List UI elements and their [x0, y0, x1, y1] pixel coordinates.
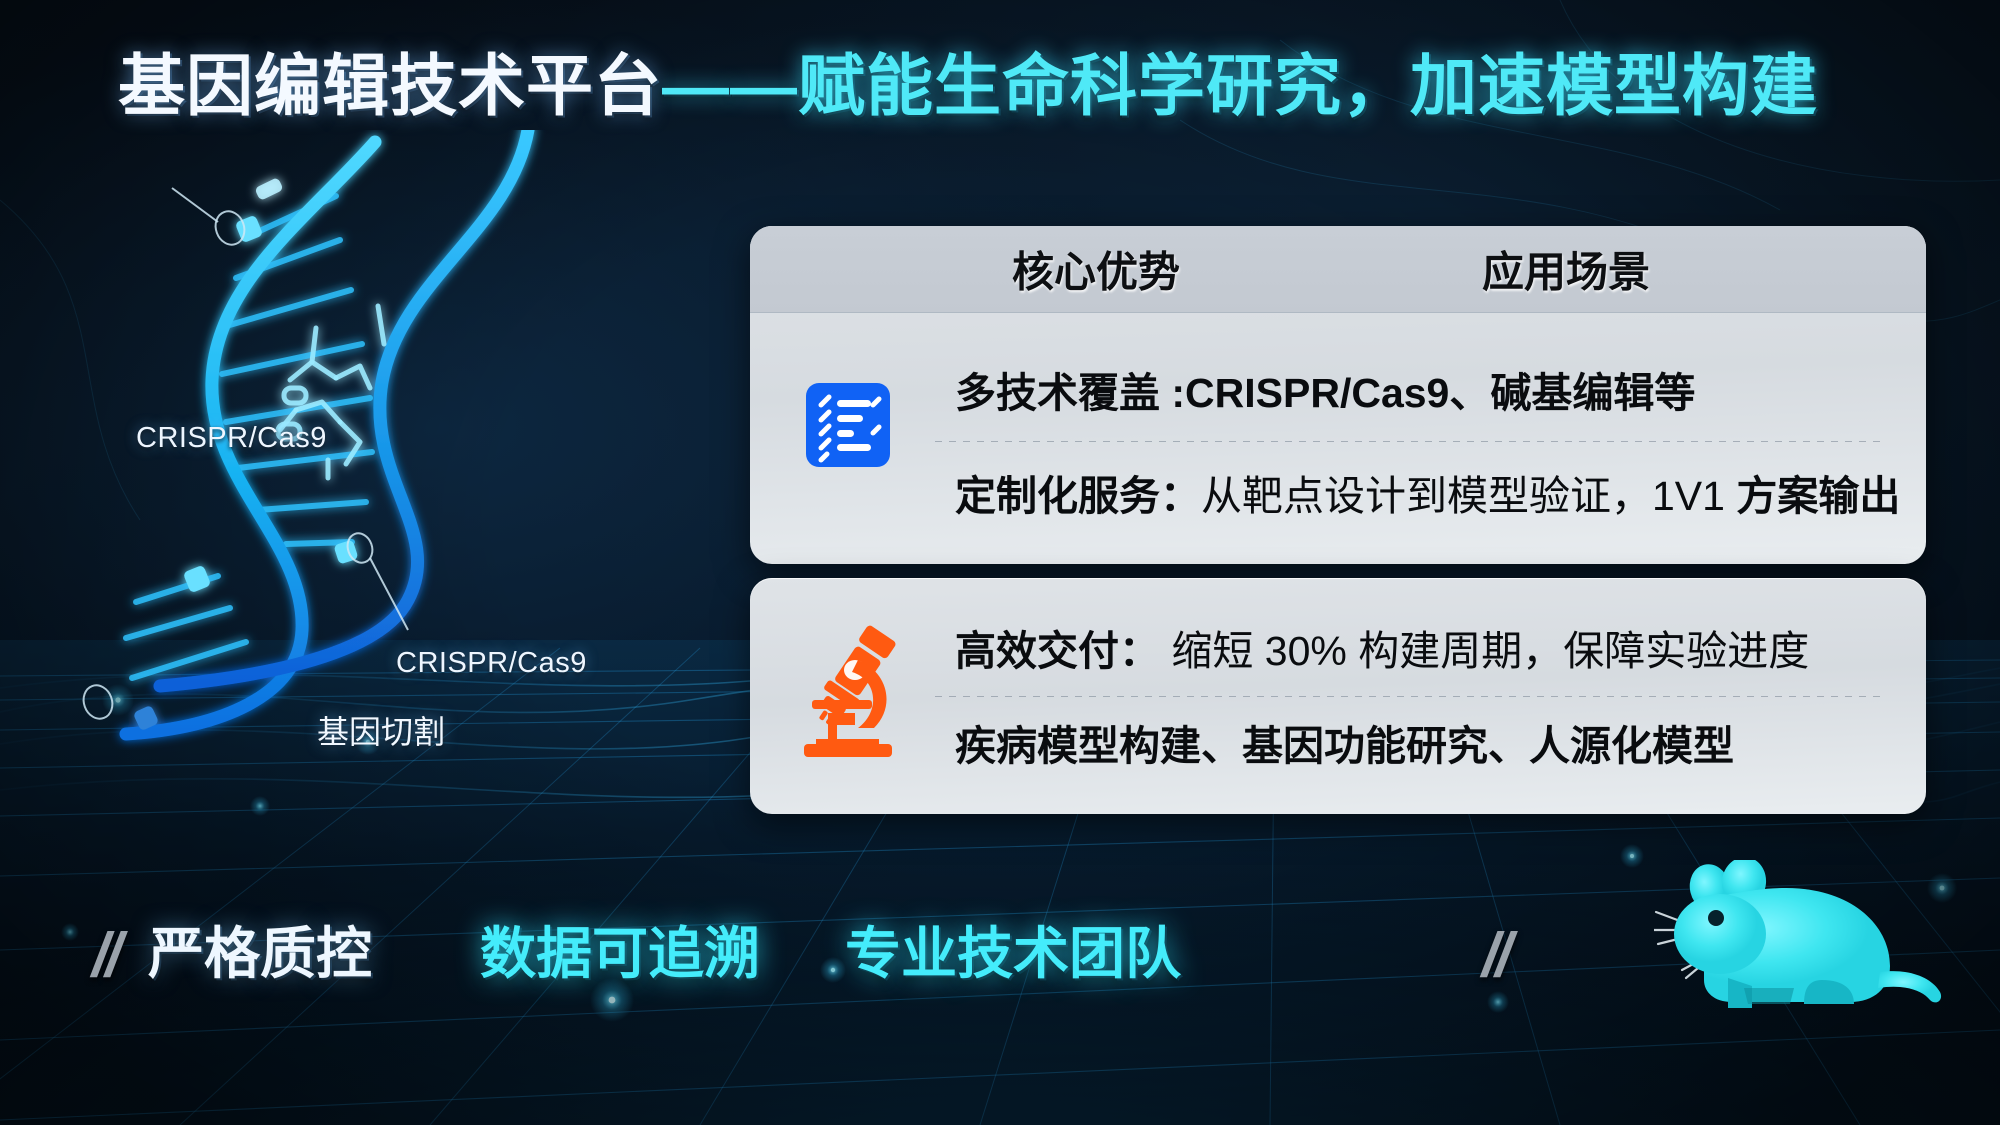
- card-divider: [935, 696, 1885, 697]
- dna-caption-gene-cut: 基因切割: [317, 707, 445, 753]
- card-divider: [935, 441, 1885, 442]
- advantage-row-custom-service: 定制化服务：从靶点设计到模型验证，1V1 方案输出: [955, 476, 1900, 517]
- scenario-row-efficient-delivery: 高效交付： 缩短 30% 构建周期，保障实验进度: [955, 631, 1809, 672]
- dna-label-crispr-top: CRISPR/Cas9: [136, 422, 327, 455]
- scenario-row-applications-text: 疾病模型构建、基因功能研究、人源化模型: [955, 723, 1734, 769]
- advantage-row-custom-service-label: 定制化服务：: [955, 473, 1201, 519]
- dna-helix-illustration: CRISPR/Cas9 CRISPR/Cas9 基因切割: [40, 130, 640, 750]
- page-title-accent: ——赋能生命科学研究，加速模型构建: [662, 49, 1818, 124]
- slash-decoration-right: //: [1482, 920, 1508, 991]
- card-body: 高效交付： 缩短 30% 构建周期，保障实验进度 疾病模型构建、基因功能研究、人…: [750, 578, 1926, 814]
- advantages-card: 核心优势 应用场景: [750, 226, 1926, 564]
- microscope-icon: [792, 620, 904, 760]
- advantage-row-custom-service-tail: 方案输出: [1736, 473, 1900, 519]
- page-title-main: 基因编辑技术平台: [118, 49, 662, 124]
- document-list-icon: [806, 383, 890, 467]
- scenario-row-efficient-delivery-text: 缩短 30% 构建周期，保障实验进度: [1160, 628, 1809, 674]
- footer-keyword-quality-control: 严格质控: [148, 926, 372, 982]
- column-header-application-scenario: 应用场景: [1482, 239, 1650, 300]
- scenario-row-applications: 疾病模型构建、基因功能研究、人源化模型: [955, 726, 1734, 767]
- scenarios-card: 高效交付： 缩短 30% 构建周期，保障实验进度 疾病模型构建、基因功能研究、人…: [750, 578, 1926, 814]
- card-header: 核心优势 应用场景: [750, 226, 1926, 313]
- footer-keyword-professional-team: 专业技术团队: [845, 926, 1181, 982]
- slash-decoration-left: //: [92, 920, 118, 991]
- advantage-row-tech-coverage: 多技术覆盖 :CRISPR/Cas9、碱基编辑等: [955, 373, 1695, 414]
- dna-label-crispr-bottom: CRISPR/Cas9: [396, 647, 587, 680]
- scenario-row-efficient-delivery-label: 高效交付：: [955, 628, 1160, 674]
- footer-keyword-data-traceability: 数据可追溯: [480, 926, 760, 982]
- slide-canvas: 基因编辑技术平台——赋能生命科学研究，加速模型构建: [0, 0, 2000, 1125]
- page-title: 基因编辑技术平台——赋能生命科学研究，加速模型构建: [118, 50, 1818, 124]
- advantage-row-custom-service-text: 从靶点设计到模型验证，1V1: [1201, 473, 1736, 519]
- card-body: 多技术覆盖 :CRISPR/Cas9、碱基编辑等 定制化服务：从靶点设计到模型验…: [750, 313, 1926, 564]
- advantage-row-tech-coverage-text: 多技术覆盖 :CRISPR/Cas9、碱基编辑等: [955, 370, 1695, 416]
- column-header-core-advantage: 核心优势: [1012, 239, 1180, 300]
- mouse-icon: [1654, 860, 1954, 1050]
